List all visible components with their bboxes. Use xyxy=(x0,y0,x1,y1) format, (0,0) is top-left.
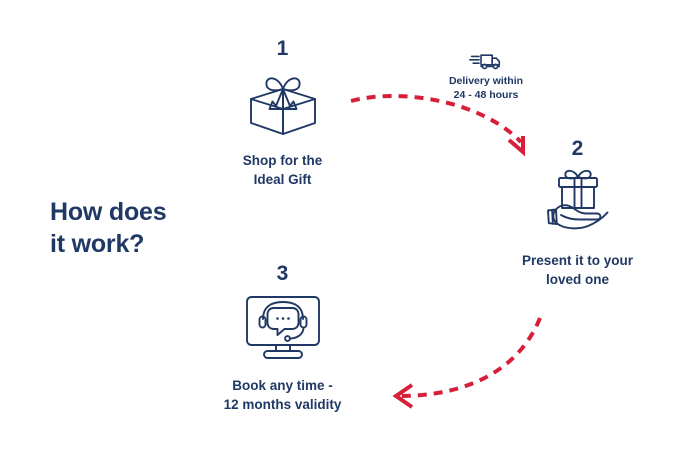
delivery-note-line-2: 24 - 48 hours xyxy=(427,89,545,103)
page-title-line-2: it work? xyxy=(50,228,240,260)
step-1-label-line-1: Shop for the xyxy=(205,151,360,170)
hand-holding-gift-icon xyxy=(495,165,660,239)
delivery-note-text: Delivery within 24 - 48 hours xyxy=(427,75,545,102)
gift-box-icon xyxy=(205,65,360,139)
step-3-label-line-1: Book any time - xyxy=(205,376,360,395)
step-2-label: Present it to your loved one xyxy=(495,251,660,289)
delivery-note-line-1: Delivery within xyxy=(427,75,545,89)
step-2-label-line-1: Present it to your xyxy=(495,251,660,270)
step-2: 2 xyxy=(495,138,660,289)
delivery-note: Delivery within 24 - 48 hours xyxy=(427,48,545,102)
arrow-step2-to-step3 xyxy=(396,318,540,407)
step-2-label-line-2: loved one xyxy=(495,270,660,289)
page-title-line-1: How does xyxy=(50,196,240,228)
step-3-number: 3 xyxy=(205,263,360,284)
page-title: How does it work? xyxy=(50,196,240,260)
step-3: 3 xyxy=(205,263,360,414)
monitor-support-chat-icon xyxy=(205,290,360,364)
step-1: 1 Sh xyxy=(205,38,360,189)
step-3-label-line-2: 12 months validity xyxy=(205,395,360,414)
step-3-label: Book any time - 12 months validity xyxy=(205,376,360,414)
step-1-label-line-2: Ideal Gift xyxy=(205,170,360,189)
step-1-number: 1 xyxy=(205,38,360,59)
step-1-label: Shop for the Ideal Gift xyxy=(205,151,360,189)
how-it-works-infographic: How does it work? xyxy=(0,0,700,457)
step-2-number: 2 xyxy=(495,138,660,159)
delivery-truck-icon xyxy=(427,48,545,72)
